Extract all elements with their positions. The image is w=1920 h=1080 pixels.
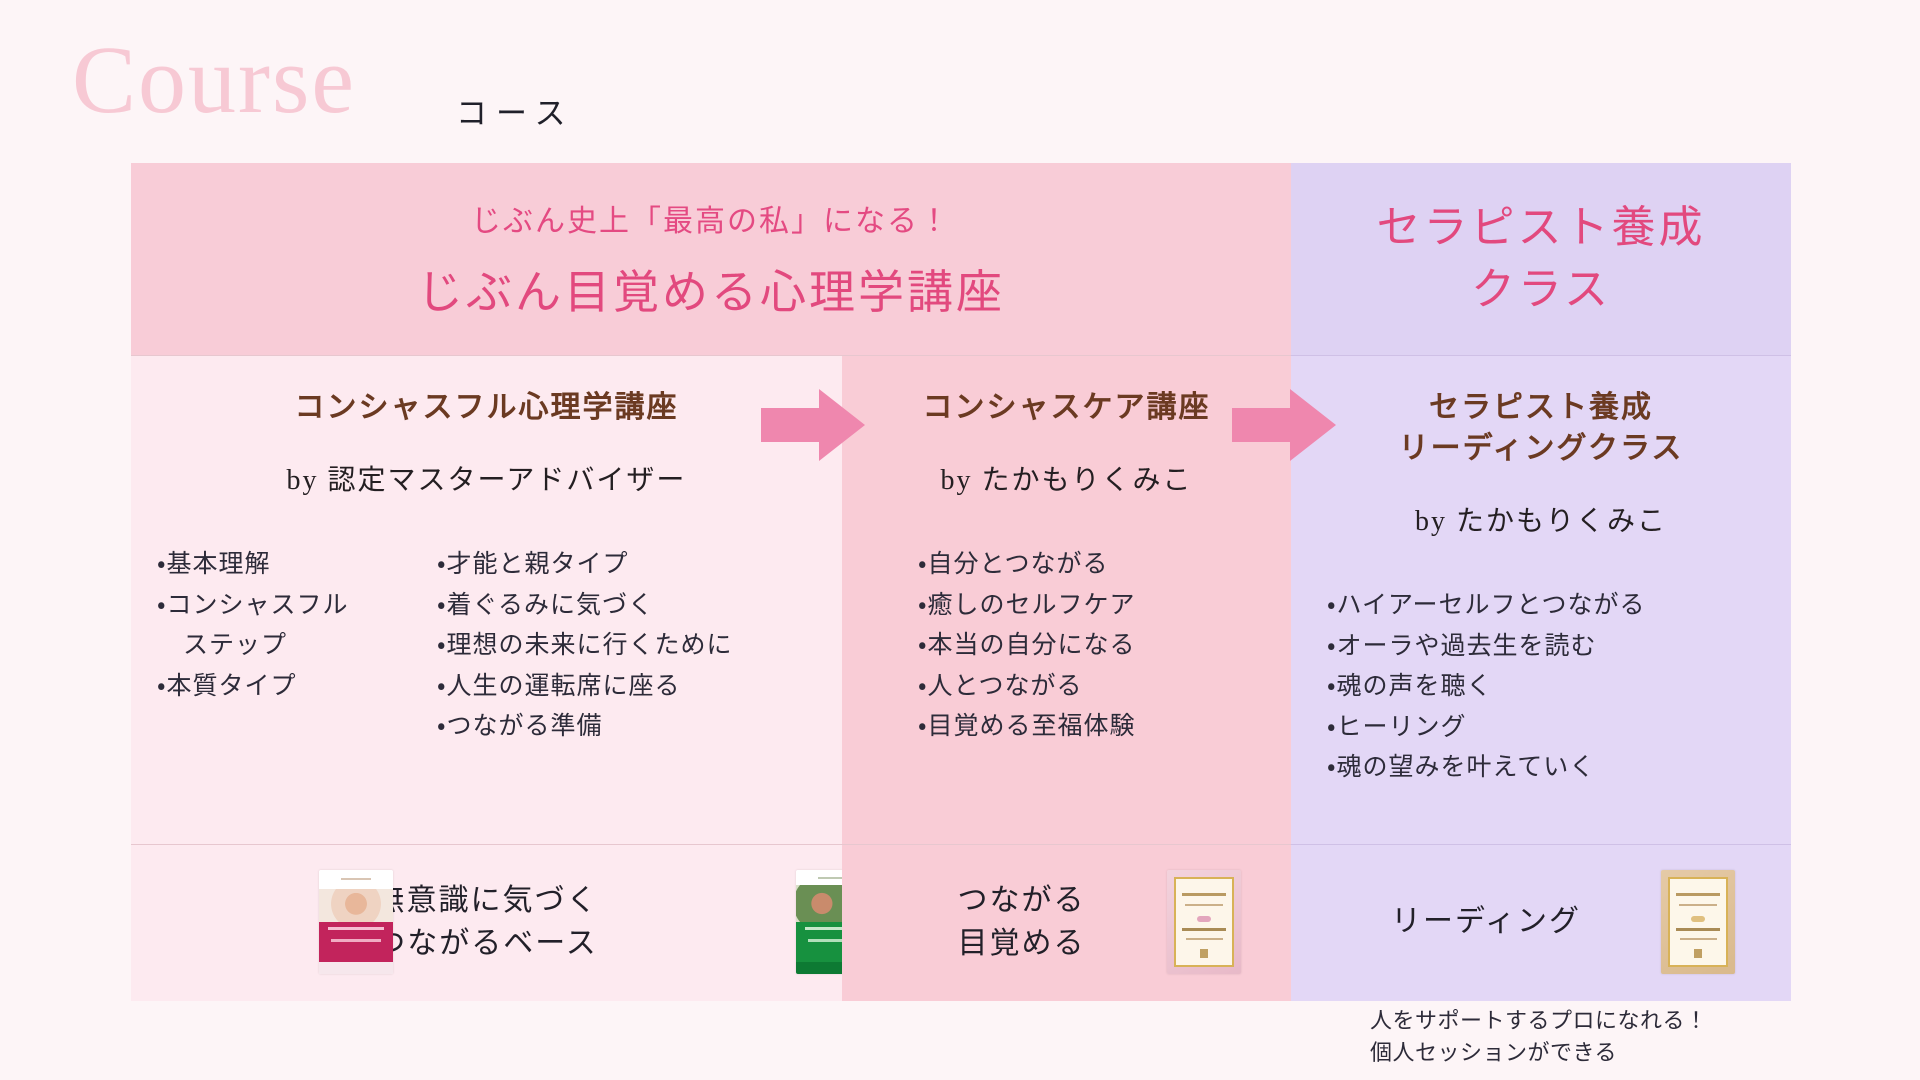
- list-item: ・人生の運転席に座る: [437, 666, 777, 707]
- column-1-footer-text: 無意識に気づく つながるベース: [375, 880, 599, 965]
- column-3-body: セラピスト養成 リーディングクラス by たかもりくみこ ・ハイアーセルフとつな…: [1291, 355, 1791, 844]
- column-3-footer-text: リーディング: [1391, 901, 1581, 944]
- column-3-bullets: ・ハイアーセルフとつながる ・オーラや過去生を読む ・魂の声を聴く ・ヒーリング…: [1291, 585, 1791, 788]
- footer-note-line1: 人をサポートするプロになれる！: [1370, 1006, 1708, 1038]
- consciouscare-book-thumbnail: [1167, 870, 1241, 974]
- column-3-title-line1: セラピスト養成: [1291, 387, 1791, 428]
- list-item: ・人とつながる: [918, 666, 1291, 707]
- list-item: ・つながる準備: [437, 706, 777, 747]
- arrow-right-icon-2: [1232, 389, 1336, 461]
- column-1-title: コンシャスフル心理学講座: [131, 387, 842, 428]
- list-item: ・オーラや過去生を読む: [1327, 626, 1791, 667]
- therapist-class-book-thumbnail: [1661, 870, 1735, 974]
- column-3-by: by たかもりくみこ: [1291, 499, 1791, 539]
- column-3-title-line2: リーディングクラス: [1291, 428, 1791, 469]
- list-item: ・魂の望みを叶えていく: [1327, 747, 1791, 788]
- banner-right: セラピスト養成 クラス: [1291, 163, 1791, 355]
- course-diagram: Course コース じぶん史上「最高の私」になる！ じぶん目覚める心理学講座 …: [0, 0, 1920, 1080]
- column-2-footer: つながる 目覚める: [842, 844, 1291, 1001]
- list-item: ・目覚める至福体験: [918, 706, 1291, 747]
- list-item: ・魂の声を聴く: [1327, 666, 1791, 707]
- page-header: Course コース: [0, 14, 1920, 134]
- consciousful-basic-book-thumbnail: [319, 870, 393, 974]
- banner-right-line1: セラピスト養成: [1377, 197, 1706, 259]
- footer-note: 人をサポートするプロになれる！ 個人セッションができる: [1370, 1006, 1708, 1070]
- column-3-footer: リーディング: [1291, 844, 1791, 1001]
- list-item: ・才能と親タイプ: [437, 544, 777, 585]
- banner-left-sub: じぶん史上「最高の私」になる！: [471, 196, 951, 240]
- footer-line: リーディング: [1391, 901, 1581, 944]
- page-title-script: Course: [72, 32, 356, 128]
- list-item: ・着ぐるみに気づく: [437, 585, 777, 626]
- column-2-by: by たかもりくみこ: [842, 458, 1291, 498]
- footer-line: 無意識に気づく: [375, 880, 599, 923]
- column-1-bullets-a: ・基本理解 ・コンシャスフル ステップ ・本質タイプ: [157, 544, 407, 747]
- column-1-body: コンシャスフル心理学講座 by 認定マスターアドバイザー ・基本理解 ・コンシャ…: [131, 355, 842, 844]
- course-table: じぶん史上「最高の私」になる！ じぶん目覚める心理学講座 セラピスト養成 クラス…: [131, 163, 1791, 1001]
- column-2-bullets: ・自分とつながる ・癒しのセルフケア ・本当の自分になる ・人とつながる ・目覚…: [842, 544, 1291, 747]
- list-item: ステップ: [157, 625, 407, 666]
- column-1-bullets-b: ・才能と親タイプ ・着ぐるみに気づく ・理想の未来に行くために ・人生の運転席に…: [437, 544, 777, 747]
- footer-line: つながるベース: [375, 923, 599, 966]
- list-item: ・自分とつながる: [918, 544, 1291, 585]
- column-2-body: コンシャスケア講座 by たかもりくみこ ・自分とつながる ・癒しのセルフケア …: [842, 355, 1291, 844]
- column-2-footer-text: つながる 目覚める: [958, 880, 1086, 965]
- arrow-right-icon-1: [761, 389, 865, 461]
- list-item: ・ヒーリング: [1327, 707, 1791, 748]
- list-item: ・癒しのセルフケア: [918, 585, 1291, 626]
- page-title-jp: コース: [456, 88, 574, 133]
- list-item: ・理想の未来に行くために: [437, 625, 777, 666]
- footer-line: つながる: [958, 880, 1086, 923]
- list-item: ・基本理解: [157, 544, 407, 585]
- column-1-footer: 無意識に気づく つながるベース: [131, 844, 842, 1001]
- list-item: ・ハイアーセルフとつながる: [1327, 585, 1791, 626]
- footer-line: 目覚める: [958, 923, 1086, 966]
- banner-right-line2: クラス: [1471, 259, 1611, 321]
- column-2-title: コンシャスケア講座: [842, 387, 1291, 428]
- list-item: ・コンシャスフル: [157, 585, 407, 626]
- banner-left: じぶん史上「最高の私」になる！ じぶん目覚める心理学講座: [131, 163, 1291, 355]
- banner-left-main: じぶん目覚める心理学講座: [417, 256, 1005, 322]
- list-item: ・本質タイプ: [157, 666, 407, 707]
- footer-note-line2: 個人セッションができる: [1370, 1038, 1708, 1070]
- column-1-by: by 認定マスターアドバイザー: [131, 458, 842, 498]
- list-item: ・本当の自分になる: [918, 625, 1291, 666]
